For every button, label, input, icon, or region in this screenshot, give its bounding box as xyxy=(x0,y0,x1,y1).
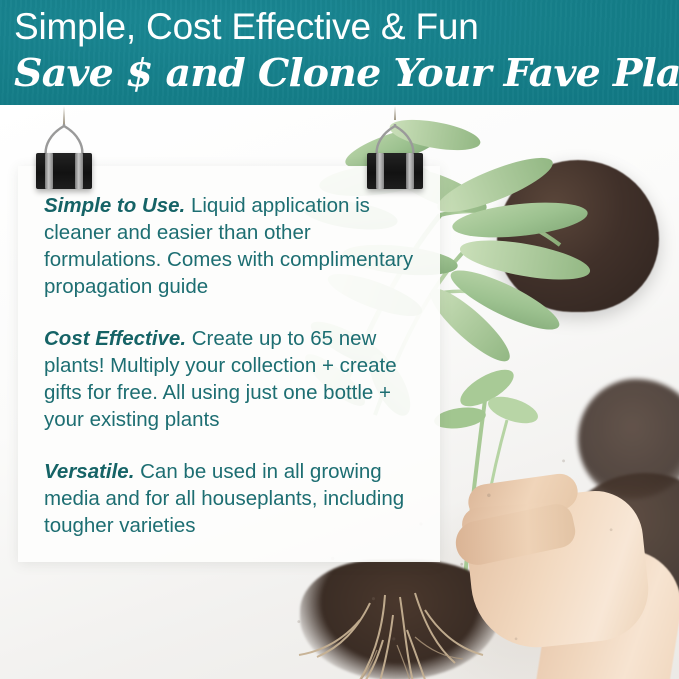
features-list: Simple to Use. Liquid application is cle… xyxy=(44,192,416,539)
header-banner: Simple, Cost Effective & Fun Save $ and … xyxy=(0,0,679,105)
binder-clip-right-arm xyxy=(406,153,414,189)
binder-clip-left-arm xyxy=(45,153,53,189)
feature-item: Cost Effective. Create up to 65 new plan… xyxy=(44,325,416,433)
product-infographic: Simple, Cost Effective & Fun Save $ and … xyxy=(0,0,679,679)
binder-clip-right-arm xyxy=(376,153,384,189)
binder-clip-left xyxy=(36,124,92,190)
feature-lead: Simple to Use. xyxy=(44,194,185,217)
binder-clip-right xyxy=(367,124,423,190)
binder-clip-left-thread xyxy=(63,106,65,124)
features-card: Simple to Use. Liquid application is cle… xyxy=(18,166,440,562)
feature-lead: Versatile. xyxy=(44,460,134,483)
feature-item: Simple to Use. Liquid application is cle… xyxy=(44,192,416,300)
feature-item: Versatile. Can be used in all growing me… xyxy=(44,458,416,539)
binder-clip-left-arm xyxy=(75,153,83,189)
headline-script: Save $ and Clone Your Fave Plants! xyxy=(14,50,679,95)
feature-lead: Cost Effective. xyxy=(44,327,186,350)
headline-primary: Simple, Cost Effective & Fun xyxy=(14,6,479,48)
binder-clip-right-thread xyxy=(394,106,396,120)
